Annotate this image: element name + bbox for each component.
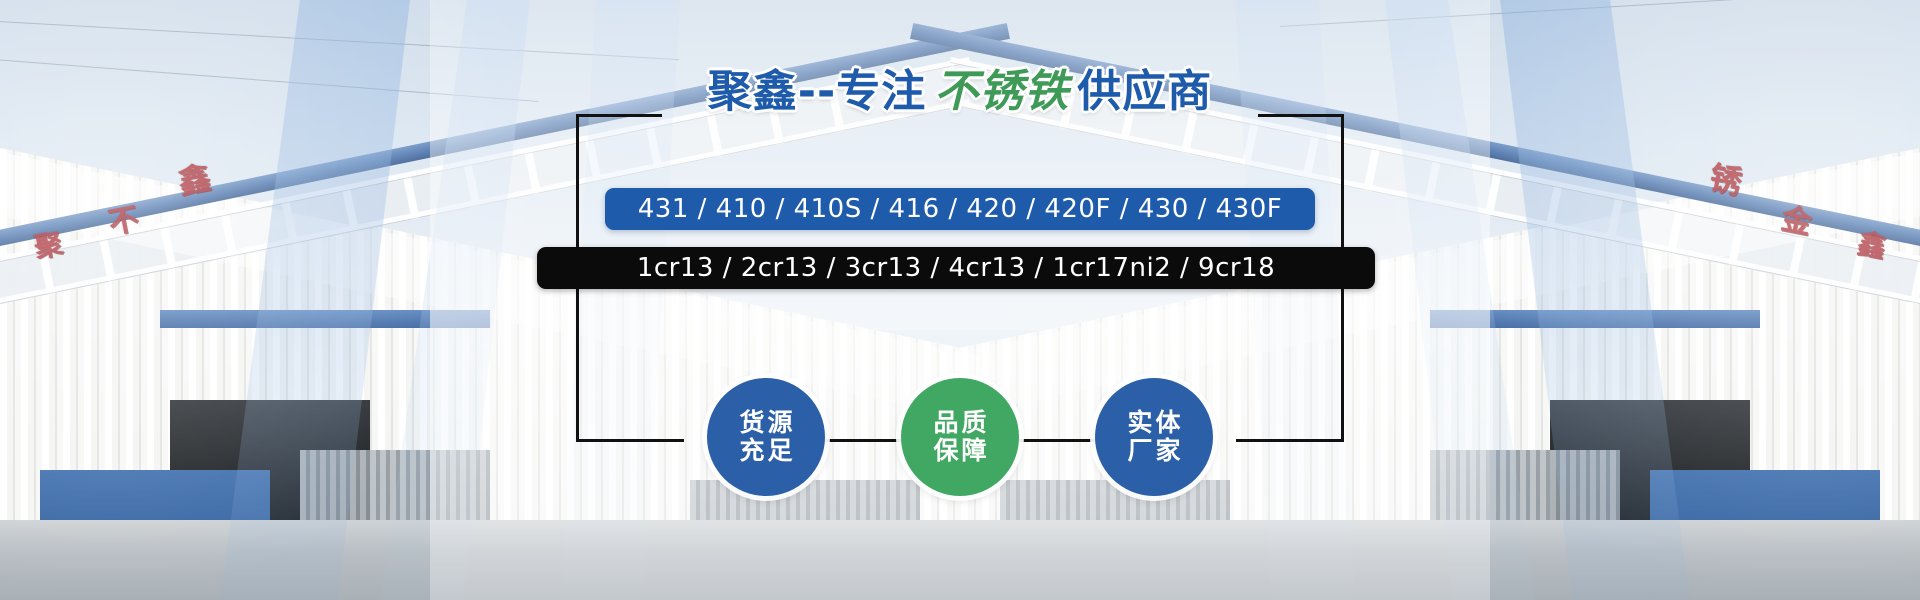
badge-line-1: 品质 [930,409,989,437]
badge-supply-sufficient: 货源 充足 [707,378,825,496]
headline-dash: -- [798,66,837,117]
feature-badges: 货源 充足 品质 保障 实体 厂家 [0,372,1920,502]
badge-line-2: 充足 [736,437,795,465]
badge-line-2: 厂家 [1124,437,1183,465]
badge-line-1: 实体 [1124,409,1183,437]
spec-bar-grades-dark: 1cr13 / 2cr13 / 3cr13 / 4cr13 / 1cr17ni2… [537,247,1375,289]
banner-headline: 聚鑫--专注不锈铁供应商 [0,70,1920,114]
headline-highlight: 不锈铁 [926,66,1077,117]
headline-supplier: 供应商 [1077,66,1212,117]
badge-line-2: 保障 [930,437,989,465]
spec-bar-grades-blue: 431 / 410 / 410S / 416 / 420 / 420F / 43… [605,188,1315,230]
headline-focus: 专注 [836,66,926,117]
badge-quality-guarantee: 品质 保障 [901,378,1019,496]
badge-real-factory: 实体 厂家 [1095,378,1213,496]
headline-brand: 聚鑫 [708,66,798,117]
badge-line-1: 货源 [736,409,795,437]
promo-banner: 鑫 不 聚 锈 金 鑫 聚鑫--专注不锈铁供应商 431 / 410 / 410… [0,0,1920,600]
